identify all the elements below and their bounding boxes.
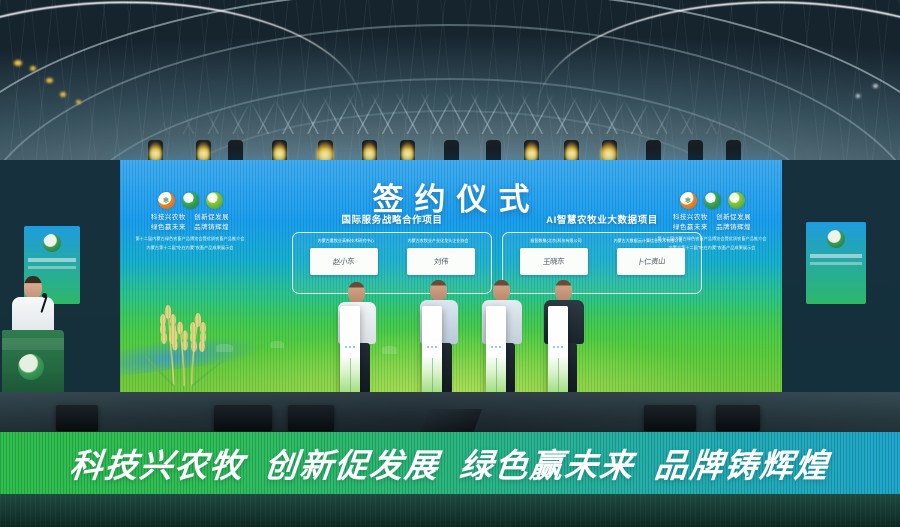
banner-phrase-1: 科技兴农牧 — [68, 446, 247, 485]
emblem-brand-green-icon: ❖ — [728, 192, 745, 209]
column-indicator-dots — [340, 346, 360, 348]
side-banner-text-line — [28, 258, 76, 262]
corner-slogan-line1-left: 科技兴农牧 创新促发展 — [134, 213, 246, 223]
person-head — [430, 280, 447, 301]
amber-reflection — [30, 66, 36, 71]
side-banner-right — [806, 222, 866, 304]
party-name-a: 内蒙古農牧业高新技术研究中心 — [300, 238, 392, 244]
microphone-head-icon — [42, 293, 47, 298]
side-banner-text-line — [810, 254, 862, 258]
signature-card: 刘伟 — [407, 248, 475, 275]
signing-frame: 极智数聚(北京)科技有限公司 内蒙古大数据云计算信息技术有限公司 王晓东 卜仁贵… — [502, 232, 702, 294]
floor-monitor-speaker — [56, 405, 98, 431]
emblem-agriculture-orange-icon: ❄ — [158, 192, 175, 209]
floor-monitor-speaker — [716, 405, 760, 431]
wheat-stalks-icon — [140, 298, 232, 386]
podium-text-band — [2, 338, 64, 350]
side-banner-emblem-icon — [43, 234, 61, 252]
column-indicator-dots — [548, 346, 568, 348]
slogan-phrase: 绿色赢未来 — [151, 224, 186, 231]
stage-apron — [0, 494, 900, 527]
wedge-stage-monitor — [420, 409, 482, 433]
slogan-phrase: 品牌铸辉煌 — [194, 224, 229, 231]
floor-monitor-speaker — [288, 405, 334, 431]
amber-reflection — [76, 100, 81, 104]
emblem-row-right: ❄ ☘ ❖ — [656, 192, 768, 209]
bottom-led-banner: 科技兴农牧创新促发展绿色赢未来品牌铸辉煌 — [0, 432, 900, 494]
amber-reflection — [14, 60, 22, 66]
signature-ink: 赵小东 — [332, 256, 354, 268]
ceiling-speck — [856, 94, 860, 98]
event-name-line1-left: 第十二届内蒙古绿色农畜产品博览会暨优质农畜产品推介会 — [134, 236, 246, 242]
person-head — [555, 280, 572, 301]
column-indicator-dots — [422, 346, 442, 348]
ceiling-speck — [873, 84, 878, 88]
amber-reflection — [46, 78, 53, 83]
podium-emblem-icon — [18, 354, 44, 380]
side-banner-text-line — [810, 262, 862, 265]
stage-photograph: 签约仪式 ❄ ☘ ❖ 科技兴农牧 创新促发展 绿色赢未来 品牌铸辉煌 第十二届内… — [0, 0, 900, 527]
floor-monitor-speaker — [214, 405, 272, 431]
banner-slogan: 科技兴农牧创新促发展绿色赢未来品牌铸辉煌 — [67, 439, 832, 487]
person-head — [24, 276, 42, 299]
column-indicator-dots — [486, 346, 506, 348]
slogan-phrase: 创新促发展 — [716, 214, 751, 221]
amber-reflection — [60, 92, 66, 97]
signature-card-row: 赵小东 刘伟 — [300, 248, 484, 275]
side-banner-text-line — [28, 266, 76, 269]
banner-phrase-3: 绿色赢未来 — [458, 446, 637, 485]
cow-silhouette — [382, 346, 397, 354]
slogan-phrase: 品牌铸辉煌 — [716, 224, 751, 231]
emblem-agriculture-orange-icon: ❄ — [680, 192, 697, 209]
emblem-livestock-green-icon: ☘ — [704, 192, 721, 209]
banner-phrase-2: 创新促发展 — [263, 446, 442, 485]
party-name-b: 内蒙古农牧业产业化龙头企业协会 — [392, 238, 484, 244]
signature-card: 王晓东 — [520, 248, 588, 275]
signature-ink: 卜仁贵山 — [636, 255, 665, 267]
party-name-a: 极智数聚(北京)科技有限公司 — [510, 238, 602, 244]
floor-monitor-speaker — [644, 405, 696, 431]
signature-card-row: 王晓东 卜仁贵山 — [510, 248, 694, 275]
signature-card: 卜仁贵山 — [617, 248, 685, 275]
emblem-brand-green-icon: ❖ — [206, 192, 223, 209]
emblem-row-left: ❄ ☘ ❖ — [134, 192, 246, 209]
person-head — [348, 282, 365, 303]
signature-card: 赵小东 — [310, 248, 378, 275]
party-name-b: 内蒙古大数据云计算信息技术有限公司 — [602, 238, 694, 244]
project-panel-ai-bigdata: AI智慧农牧业大数据项目 极智数聚(北京)科技有限公司 内蒙古大数据云计算信息技… — [502, 212, 702, 294]
project-title: AI智慧农牧业大数据项目 — [502, 212, 702, 226]
signature-ink: 刘伟 — [433, 256, 448, 268]
project-title: 国际服务战略合作项目 — [292, 212, 492, 226]
emblem-livestock-green-icon: ☘ — [182, 192, 199, 209]
banner-phrase-4: 品牌铸辉煌 — [653, 446, 832, 485]
party-row: 内蒙古農牧业高新技术研究中心 内蒙古农牧业产业化龙头企业协会 — [300, 238, 484, 244]
slogan-phrase: 科技兴农牧 — [151, 214, 186, 221]
signing-frame: 内蒙古農牧业高新技术研究中心 内蒙古农牧业产业化龙头企业协会 赵小东 刘伟 — [292, 232, 492, 294]
person-head — [493, 280, 510, 301]
party-row: 极智数聚(北京)科技有限公司 内蒙古大数据云计算信息技术有限公司 — [510, 238, 694, 244]
slogan-phrase: 创新促发展 — [194, 214, 229, 221]
apron-texture — [0, 494, 900, 527]
corner-identity-block-left: ❄ ☘ ❖ 科技兴农牧 创新促发展 绿色赢未来 品牌铸辉煌 第十二届内蒙古绿色农… — [134, 192, 246, 251]
corner-slogan-line2-left: 绿色赢未来 品牌铸辉煌 — [134, 223, 246, 233]
side-banner-emblem-icon — [827, 230, 845, 248]
event-name-line2-left: 内蒙古第十二届"吃在内蒙"农畜产品成果展示会 — [134, 245, 246, 251]
host-presenter — [10, 276, 54, 336]
cow-silhouette — [270, 341, 284, 348]
signature-ink: 王晓东 — [542, 256, 564, 268]
project-panel-international-service: 国际服务战略合作项目 内蒙古農牧业高新技术研究中心 内蒙古农牧业产业化龙头企业协… — [292, 212, 492, 294]
